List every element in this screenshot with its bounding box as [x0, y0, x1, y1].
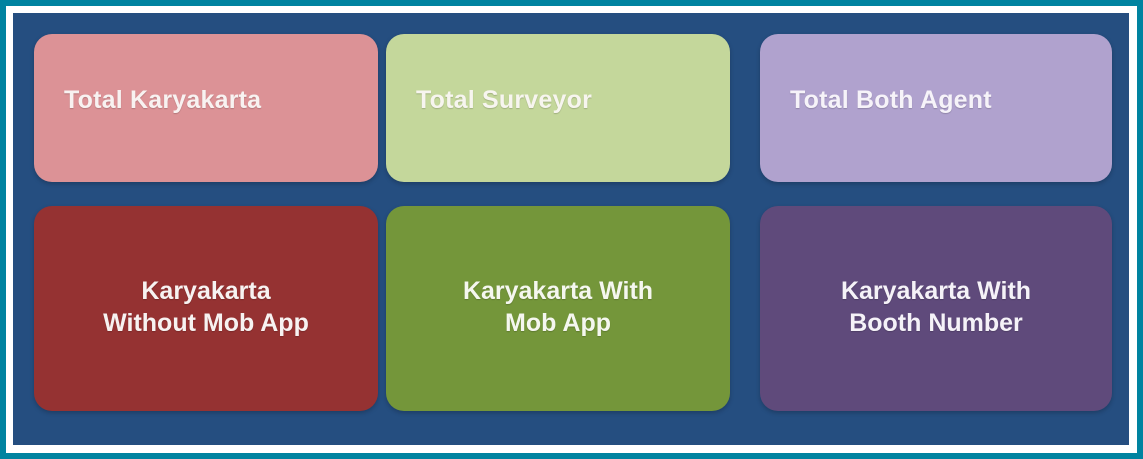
- stat-card-total-both-agent[interactable]: Total Both Agent: [760, 34, 1112, 182]
- stat-card-total-karyakarta[interactable]: Total Karyakarta: [34, 34, 378, 182]
- stat-card-total-surveyor[interactable]: Total Surveyor: [386, 34, 730, 182]
- stat-card-karyakarta-with-booth-number[interactable]: Karyakarta With Booth Number: [760, 206, 1112, 411]
- stat-card-karyakarta-with-mob-app[interactable]: Karyakarta With Mob App: [386, 206, 730, 411]
- dashboard-screenshot: Total Karyakarta Total Surveyor Total Bo…: [0, 0, 1143, 459]
- stat-card-label: Total Surveyor: [386, 86, 730, 131]
- stat-card-label: Total Karyakarta: [34, 86, 378, 131]
- stat-card-label: Karyakarta With Booth Number: [760, 275, 1112, 343]
- stat-card-karyakarta-without-mob-app[interactable]: Karyakarta Without Mob App: [34, 206, 378, 411]
- dashboard-white-frame: Total Karyakarta Total Surveyor Total Bo…: [6, 6, 1137, 453]
- stat-card-grid: Total Karyakarta Total Surveyor Total Bo…: [13, 13, 1129, 445]
- stat-card-label: Total Both Agent: [760, 86, 1112, 131]
- dashboard-panel: Total Karyakarta Total Surveyor Total Bo…: [13, 13, 1129, 445]
- stat-card-label: Karyakarta With Mob App: [386, 275, 730, 343]
- stat-card-label: Karyakarta Without Mob App: [34, 275, 378, 343]
